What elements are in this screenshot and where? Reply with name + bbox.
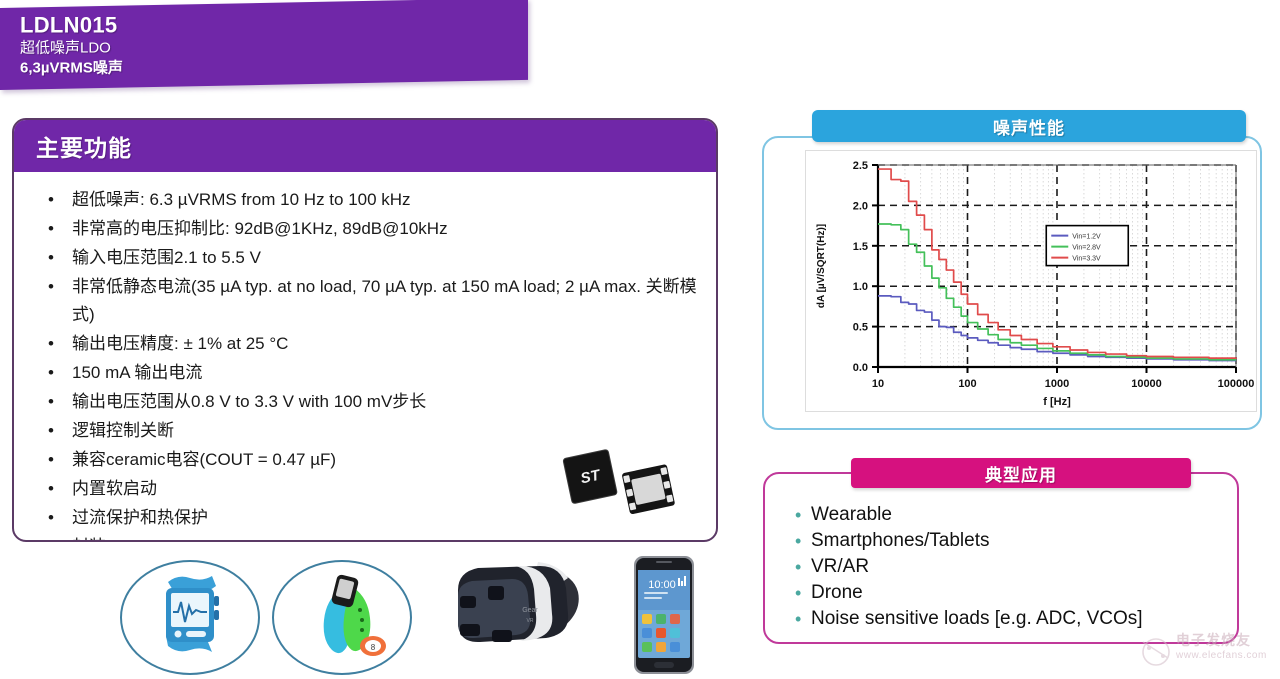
list-item: 超低噪声: 6.3 µVRMS from 10 Hz to 100 kHz: [28, 186, 702, 214]
phone-clock-label: 10:00: [648, 579, 676, 591]
typical-applications-header: 典型应用: [851, 458, 1191, 488]
svg-text:0.5: 0.5: [853, 322, 868, 334]
svg-text:0.0: 0.0: [853, 362, 868, 374]
smartphone-photo: 10:00: [628, 552, 700, 678]
key-features-title: 主要功能: [36, 129, 132, 163]
watermark-text: 电子发烧友: [1176, 630, 1251, 650]
svg-text:VR: VR: [527, 618, 534, 624]
noise-performance-title: 噪声性能: [993, 114, 1065, 139]
svg-text:10000: 10000: [1131, 378, 1162, 390]
noise-chart-svg: 0.00.51.01.52.02.510100100010000100000f …: [806, 151, 1258, 413]
list-item: 输出电压范围从0.8 V to 3.3 V with 100 mV步长: [28, 388, 702, 416]
list-item: 非常低静态电流(35 µA typ. at no load, 70 µA typ…: [28, 273, 702, 329]
svg-text:8: 8: [371, 643, 376, 652]
svg-text:100: 100: [958, 378, 976, 390]
noise-chart: 0.00.51.01.52.02.510100100010000100000f …: [805, 150, 1257, 412]
key-features-body: 超低噪声: 6.3 µVRMS from 10 Hz to 100 kHz 非常…: [14, 172, 716, 540]
list-item: Wearable: [795, 502, 1237, 528]
list-item: 封装: DFN 2mm*2mm: [28, 533, 702, 542]
product-subtitle-1: 超低噪声LDO: [20, 39, 123, 59]
list-item: 输入电压范围2.1 to 5.5 V: [28, 244, 702, 272]
svg-text:Vin=2.8V: Vin=2.8V: [1072, 245, 1101, 252]
slide-root: LDLN015 超低噪声LDO 6,3µVRMS噪声 主要功能 超低噪声: 6.…: [0, 0, 1280, 679]
svg-text:1.0: 1.0: [853, 281, 868, 293]
key-features-header: 主要功能: [14, 120, 716, 172]
fitness-bands-glyph: 8: [274, 562, 410, 673]
svg-text:Gear: Gear: [522, 607, 538, 614]
vr-headset-photo: Gear VR: [434, 552, 614, 674]
typical-applications-title: 典型应用: [985, 461, 1057, 486]
key-features-panel: 主要功能 超低噪声: 6.3 µVRMS from 10 Hz to 100 k…: [12, 118, 718, 542]
svg-text:Vin=1.2V: Vin=1.2V: [1072, 234, 1101, 241]
svg-text:f [Hz]: f [Hz]: [1043, 396, 1071, 408]
product-subtitle-2: 6,3µVRMS噪声: [20, 59, 123, 79]
svg-text:Vin=3.3V: Vin=3.3V: [1072, 256, 1101, 263]
svg-text:1.5: 1.5: [853, 241, 868, 253]
smartwatch-ecg-glyph: [122, 562, 258, 673]
svg-text:2.5: 2.5: [853, 160, 868, 172]
product-title-banner: LDLN015 超低噪声LDO 6,3µVRMS噪声: [0, 0, 528, 90]
typical-applications-panel: Wearable Smartphones/Tablets VR/AR Drone…: [763, 472, 1239, 644]
watermark: 电子发烧友 www.elecfans.com: [1140, 628, 1276, 676]
svg-text:100000: 100000: [1218, 378, 1255, 390]
list-item: 非常高的电压抑制比: 92dB@1KHz, 89dB@10kHz: [28, 215, 702, 243]
dfn-package-photo: ST: [558, 440, 688, 526]
svg-text:dA [µV/SQRT(Hz)]: dA [µV/SQRT(Hz)]: [816, 224, 827, 308]
product-code: LDLN015: [20, 13, 123, 39]
list-item: Smartphones/Tablets: [795, 528, 1237, 554]
fitness-bands-icon: 8: [272, 560, 412, 675]
smartwatch-ecg-icon: [120, 560, 260, 675]
product-title-text-group: LDLN015 超低噪声LDO 6,3µVRMS噪声: [20, 13, 123, 79]
svg-text:10: 10: [872, 378, 884, 390]
list-item: 输出电压精度: ± 1% at 25 °C: [28, 330, 702, 358]
watermark-url: www.elecfans.com: [1176, 650, 1267, 661]
list-item: Drone: [795, 580, 1237, 606]
svg-text:2.0: 2.0: [853, 200, 868, 212]
list-item: 150 mA 输出电流: [28, 359, 702, 387]
svg-text:1000: 1000: [1045, 378, 1069, 390]
watermark-logo-icon: [1140, 628, 1174, 668]
noise-performance-header: 噪声性能: [812, 110, 1246, 142]
list-item: VR/AR: [795, 554, 1237, 580]
typical-applications-list: Wearable Smartphones/Tablets VR/AR Drone…: [765, 474, 1237, 632]
